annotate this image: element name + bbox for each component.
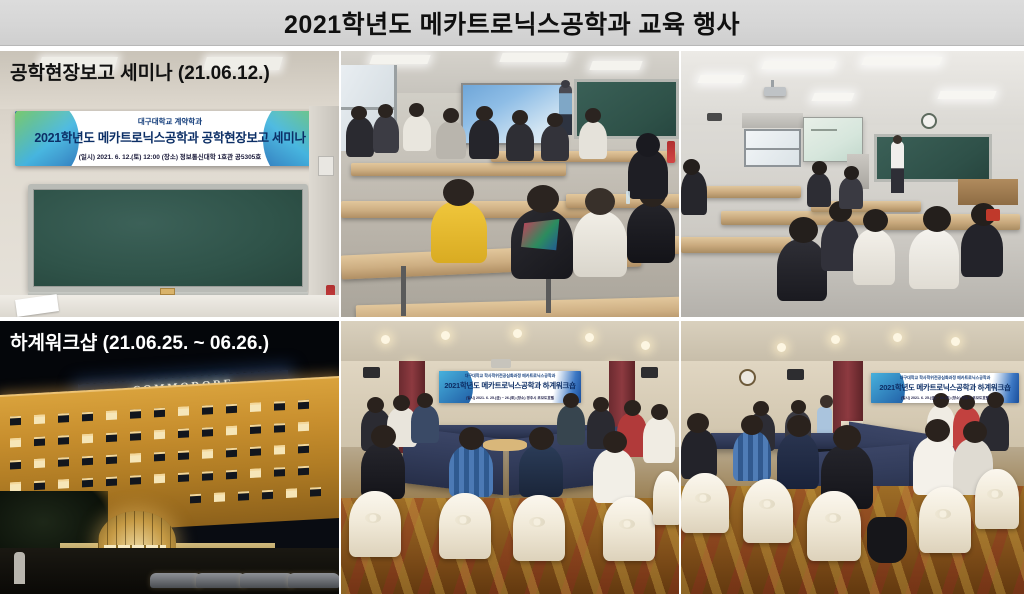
downlight — [641, 341, 650, 350]
covered-chair — [919, 487, 971, 553]
banner-sub-line: (일시) 2021. 6. 25.(금) ~ 26.(토) (장소) 경주시 코… — [871, 396, 1019, 401]
wall-speaker — [787, 369, 804, 380]
downlight — [441, 331, 450, 340]
window-blind — [742, 113, 803, 128]
student-head — [585, 188, 615, 215]
presenter — [891, 141, 904, 193]
downlight — [893, 333, 902, 342]
window — [744, 129, 801, 167]
student-head — [636, 133, 660, 157]
student — [807, 173, 831, 207]
student — [839, 177, 863, 209]
participant — [913, 437, 957, 495]
covered-chair — [743, 479, 793, 543]
chair-bow — [455, 515, 471, 525]
participant-head — [925, 419, 950, 442]
downlight — [381, 335, 390, 344]
covered-chair — [975, 469, 1019, 529]
chair-bow — [987, 489, 1003, 499]
ceiling-light — [761, 61, 836, 69]
chair-bow — [619, 519, 635, 529]
photo-workshop-roundtable: 대구대학교 학사학위전공심화과정 메카트로닉스공학과 2021학년도 메카트로닉… — [341, 321, 679, 594]
student — [573, 211, 627, 277]
caption-row1: 공학현장보고 세미나 (21.06.12.) — [10, 58, 270, 85]
participant-head — [741, 415, 763, 435]
student — [627, 203, 675, 263]
covered-chair — [653, 471, 679, 525]
student — [436, 121, 466, 159]
student — [853, 229, 895, 285]
photo-seminar-room-banner: 대구대학교 계약학과 2021학년도 메카트로닉스공학과 공학현장보고 세미나 … — [0, 51, 339, 317]
participant-head — [787, 415, 811, 437]
participant-head — [603, 431, 627, 453]
student-head — [585, 108, 601, 123]
projector — [764, 87, 786, 96]
banner-top-line: 대구대학교 계약학과 — [15, 116, 325, 127]
wall-clock — [739, 369, 756, 386]
downlight — [777, 343, 786, 352]
ceiling-light — [369, 55, 430, 64]
participant — [643, 417, 675, 463]
student — [346, 117, 374, 157]
student — [541, 125, 569, 161]
student — [469, 119, 499, 159]
wall-speaker — [363, 367, 380, 378]
photo-commodore-hotel-night: COMMODORE — [0, 321, 339, 594]
chair-bow — [825, 513, 841, 523]
chair-bow — [759, 499, 775, 509]
wall-clock — [921, 113, 937, 129]
student-head — [923, 206, 951, 232]
chalkboard-surface — [33, 189, 303, 287]
photo-classroom-presentation — [681, 51, 1024, 317]
page-title: 2021학년도 메카트로닉스공학과 교육 행사 — [284, 5, 740, 41]
participant-head — [833, 425, 861, 450]
parked-car — [240, 573, 294, 588]
presenter-head — [820, 395, 833, 408]
participant-head — [529, 427, 554, 450]
participant-head — [417, 393, 433, 408]
downlight — [513, 329, 522, 338]
ceiling-light — [589, 61, 642, 70]
participant-head — [624, 400, 641, 416]
participant-head — [753, 401, 769, 416]
downlight — [585, 333, 594, 342]
side-cabinet — [958, 179, 1018, 205]
banner-main-line: 2021학년도 메카트로닉스공학과 공학현장보고 세미나 — [15, 127, 325, 146]
ceiling-light — [697, 75, 744, 83]
student-head — [844, 166, 859, 180]
participant — [557, 405, 585, 445]
parked-car — [196, 573, 246, 588]
student-head — [378, 104, 393, 118]
student-head — [443, 108, 459, 123]
covered-chair — [439, 493, 491, 559]
participant-head — [371, 425, 396, 448]
covered-chair — [603, 497, 655, 561]
covered-chair — [807, 491, 861, 561]
parked-car — [150, 573, 202, 588]
chair-bow — [365, 513, 381, 523]
student — [431, 201, 487, 263]
ceiling-light — [937, 91, 996, 99]
banner-top-line: 대구대학교 학사학위전공심화과정 메카트로닉스공학과 — [439, 373, 581, 379]
participant-head — [687, 413, 709, 433]
photo-workshop-presentation: 대구대학교 학사학위전공심화과정 메카트로닉스공학과 2021학년도 메카트로닉… — [681, 321, 1024, 594]
student — [403, 115, 431, 151]
participant-head — [367, 397, 384, 413]
banner-top-line: 대구대학교 학사학위전공심화과정 메카트로닉스공학과 — [871, 375, 1019, 381]
student-head — [863, 209, 888, 232]
participant — [681, 429, 717, 479]
covered-chair — [681, 473, 729, 533]
ceiling-light — [499, 53, 568, 62]
caption-row2: 하계워크샵 (21.06.25. ~ 06.26.) — [10, 328, 269, 355]
student-head — [443, 179, 474, 206]
covered-chair — [513, 495, 565, 561]
ceiling — [681, 51, 1024, 125]
participant-head — [459, 427, 484, 450]
participant — [593, 449, 635, 503]
page-header: 2021학년도 메카트로닉스공학과 교육 행사 — [0, 0, 1024, 46]
workshop-banner: 대구대학교 학사학위전공심화과정 메카트로닉스공학과 2021학년도 메카트로닉… — [439, 371, 581, 403]
student — [681, 171, 707, 215]
workshop-banner: 대구대학교 학사학위전공심화과정 메카트로닉스공학과 2021학년도 메카트로닉… — [871, 373, 1019, 403]
participant — [361, 443, 405, 499]
student — [373, 115, 399, 153]
student — [506, 123, 534, 161]
student — [961, 223, 1003, 277]
photo-lecture-hall-students — [341, 51, 679, 317]
desk-row — [351, 163, 566, 176]
participant — [777, 433, 819, 489]
backpack — [867, 517, 907, 563]
participant-head — [791, 400, 806, 414]
student — [777, 239, 827, 301]
student — [909, 229, 959, 289]
student-head — [351, 106, 367, 120]
student-head — [527, 185, 559, 213]
person-silhouette — [14, 552, 25, 584]
seminar-banner: 대구대학교 계약학과 2021학년도 메카트로닉스공학과 공학현장보고 세미나 … — [15, 111, 325, 166]
ceiling-light — [861, 57, 942, 65]
parked-car — [288, 573, 339, 588]
participant — [519, 445, 563, 497]
banner-main-line: 2021학년도 메카트로닉스공학과 하계워크숍 — [439, 380, 581, 391]
event-photo-collage: 2021학년도 메카트로닉스공학과 교육 행사 대구대학교 계약학과 2021학… — [0, 0, 1024, 594]
chair-bow — [695, 493, 711, 503]
snack-tray — [483, 439, 527, 451]
banner-sub-line: (일시) 2021. 6. 12.(토) 12:00 (장소) 정보통신대학 1… — [15, 151, 325, 161]
ceiling-light — [811, 93, 854, 101]
participant-head — [963, 421, 987, 443]
student-head — [547, 113, 563, 127]
downlight — [831, 335, 840, 344]
student-head — [683, 159, 700, 175]
water-bottle — [626, 191, 630, 204]
chair-bow — [935, 509, 951, 519]
chalkboard — [28, 184, 308, 292]
student-head — [512, 110, 528, 125]
student-head — [812, 161, 827, 175]
participant-head — [651, 404, 668, 420]
student-head — [409, 103, 424, 117]
desk-row — [681, 237, 791, 253]
student-head — [789, 217, 818, 243]
banner-sub-line: (일시) 2021. 6. 25.(금) ~ 26.(토) (장소) 경주시 코… — [439, 396, 581, 401]
fire-extinguisher — [667, 141, 675, 163]
participant — [733, 431, 771, 481]
participant — [411, 405, 439, 443]
wall-speaker — [707, 113, 722, 121]
chair-bow — [529, 517, 545, 527]
participant-head — [393, 395, 410, 411]
projector — [491, 359, 511, 368]
desk-leg — [401, 266, 406, 316]
eraser — [160, 288, 175, 295]
student-head — [476, 106, 493, 121]
downlight — [951, 337, 960, 346]
banner-main-line: 2021학년도 메카트로닉스공학과 하계워크숍 — [871, 382, 1019, 393]
student — [579, 121, 607, 159]
ceiling — [681, 321, 1024, 365]
participant-head — [593, 397, 609, 412]
photo-grid: 대구대학교 계약학과 2021학년도 메카트로닉스공학과 공학현장보고 세미나 … — [0, 51, 1024, 594]
covered-chair — [349, 491, 401, 557]
wall-speaker — [641, 367, 658, 378]
backpack — [986, 209, 1000, 221]
participant — [449, 445, 493, 497]
